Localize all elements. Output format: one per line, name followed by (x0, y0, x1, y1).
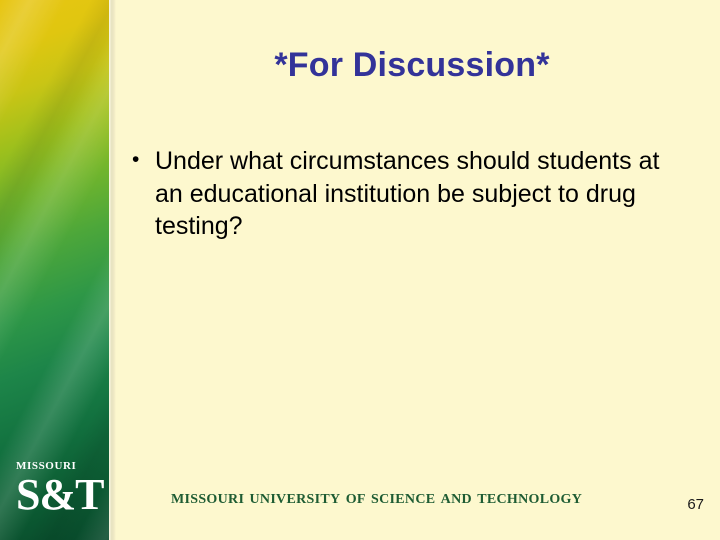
list-item: • Under what circumstances should studen… (132, 145, 692, 243)
bullet-marker-icon: • (132, 145, 155, 175)
bullet-list: • Under what circumstances should studen… (132, 145, 692, 243)
presentation-slide: Missouri S&T *For Discussion* • Under wh… (0, 0, 720, 540)
page-number: 67 (687, 497, 704, 512)
list-item-label: Under what circumstances should students… (155, 145, 692, 243)
page-title: *For Discussion* (116, 47, 708, 84)
logo-main-text: S&T (16, 475, 102, 515)
footer-wordmark: Missouri University of Science and Techn… (171, 486, 582, 509)
band-edge-highlight (109, 0, 116, 540)
missouri-st-logo: Missouri S&T (16, 458, 102, 515)
